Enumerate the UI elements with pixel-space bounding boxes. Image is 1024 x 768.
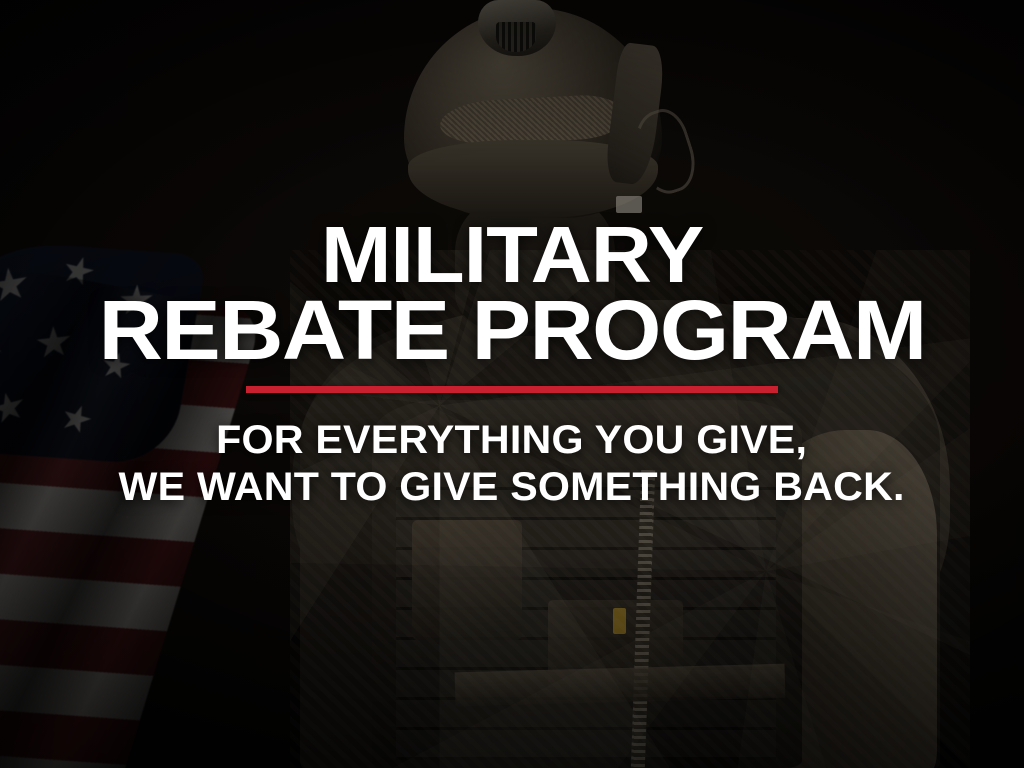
subheadline: FOR EVERYTHING YOU GIVE, WE WANT TO GIVE… [119, 417, 905, 511]
banner-copy: MILITARY REBATE PROGRAM FOR EVERYTHING Y… [0, 0, 1024, 768]
subheadline-line-2: WE WANT TO GIVE SOMETHING BACK. [119, 464, 905, 511]
military-rebate-banner: MILITARY REBATE PROGRAM FOR EVERYTHING Y… [0, 0, 1024, 768]
headline-line-2: REBATE PROGRAM [99, 292, 926, 369]
red-divider [246, 386, 778, 393]
subheadline-line-1: FOR EVERYTHING YOU GIVE, [119, 417, 905, 464]
page-title: MILITARY REBATE PROGRAM [99, 218, 926, 369]
